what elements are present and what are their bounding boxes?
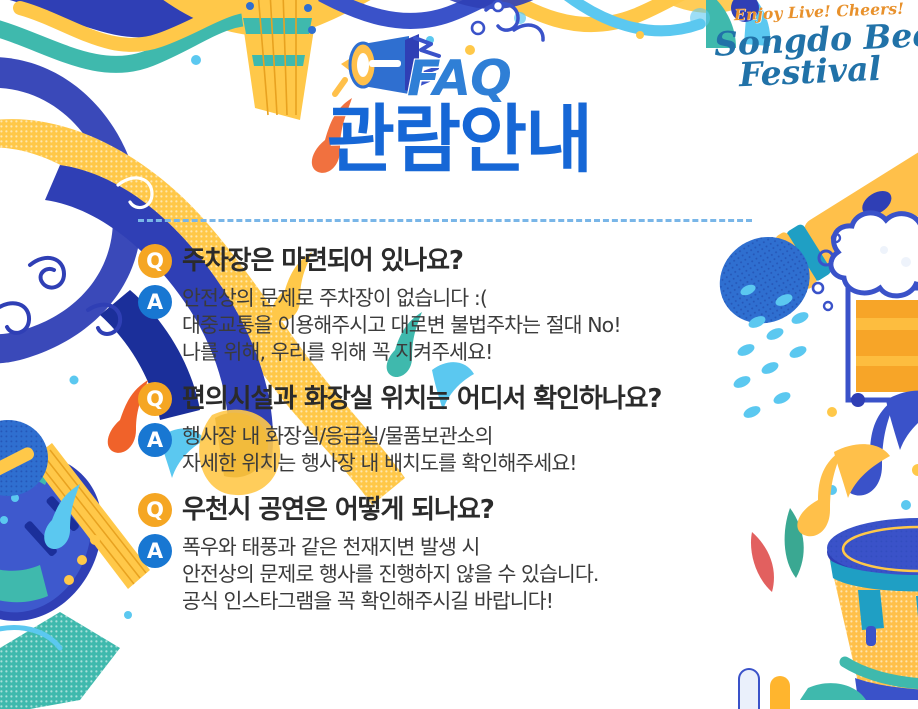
faq-heading-group: FAQ xyxy=(329,34,589,96)
answer-badge: A xyxy=(138,423,172,457)
answer-badge: A xyxy=(138,534,172,568)
drumstick-icon xyxy=(738,668,790,709)
faq-poster: Enjoy Live! Cheers! Songdo Beer Festival… xyxy=(0,0,918,709)
faq-item: Q 편의시설과 화장실 위치는 어디서 확인하나요? A 행사장 내 화장실/응… xyxy=(138,382,898,477)
faq-answer-line: 행사장 내 화장실/응급실/물품보관소의 xyxy=(182,423,577,450)
faq-answer-line: 공식 인스타그램을 꼭 확인해주시길 바랍니다! xyxy=(182,588,598,615)
faq-item: Q 주차장은 마련되어 있나요? A 안전상의 문제로 주차장이 없습니다 :(… xyxy=(138,244,898,366)
faq-answer-block: 폭우와 태풍과 같은 천재지변 발생 시 안전상의 문제로 행사를 진행하지 않… xyxy=(182,534,598,615)
faq-label: FAQ xyxy=(407,50,511,107)
faq-answer-line: 자세한 위치는 행사장 내 배치도를 확인해주세요! xyxy=(182,450,577,477)
faq-question-text: 주차장은 마련되어 있나요? xyxy=(182,244,463,278)
star-burst-icon xyxy=(0,612,120,709)
faq-question-row: Q 우천시 공연은 어떻게 되나요? xyxy=(138,493,898,527)
faq-answer-row: A 폭우와 태풍과 같은 천재지변 발생 시 안전상의 문제로 행사를 진행하지… xyxy=(138,533,898,615)
faq-answer-block: 안전상의 문제로 주차장이 없습니다 :( 대중교통을 이용해주시고 대로변 불… xyxy=(182,285,621,366)
faq-answer-row: A 안전상의 문제로 주차장이 없습니다 :( 대중교통을 이용해주시고 대로변… xyxy=(138,284,898,366)
faq-answer-line: 안전상의 문제로 주차장이 없습니다 :( xyxy=(182,285,621,312)
faq-list: Q 주차장은 마련되어 있나요? A 안전상의 문제로 주차장이 없습니다 :(… xyxy=(138,244,898,615)
question-badge: Q xyxy=(138,493,172,527)
faq-answer-block: 행사장 내 화장실/응급실/물품보관소의 자세한 위치는 행사장 내 배치도를 … xyxy=(182,423,577,477)
faq-question-row: Q 주차장은 마련되어 있나요? xyxy=(138,244,898,278)
faq-answer-line: 나를 위해, 우리를 위해 꼭 지켜주세요! xyxy=(182,339,621,366)
question-badge: Q xyxy=(138,244,172,278)
faq-item: Q 우천시 공연은 어떻게 되나요? A 폭우와 태풍과 같은 천재지변 발생 … xyxy=(138,493,898,615)
brand-logo: Enjoy Live! Cheers! Songdo Beer Festival xyxy=(714,2,918,88)
faq-answer-line: 폭우와 태풍과 같은 천재지변 발생 시 xyxy=(182,534,598,561)
faq-answer-row: A 행사장 내 화장실/응급실/물품보관소의 자세한 위치는 행사장 내 배치도… xyxy=(138,422,898,477)
question-badge: Q xyxy=(138,382,172,416)
microphone-icon xyxy=(0,420,48,496)
brand-name-line2: Festival xyxy=(713,51,906,93)
guitar-icon xyxy=(0,442,150,621)
faq-question-text: 편의시설과 화장실 위치는 어디서 확인하나요? xyxy=(182,382,661,416)
faq-question-row: Q 편의시설과 화장실 위치는 어디서 확인하나요? xyxy=(138,382,898,416)
section-divider xyxy=(138,219,752,222)
swirl-icon xyxy=(118,178,152,208)
faq-question-text: 우천시 공연은 어떻게 되나요? xyxy=(182,493,494,527)
faq-answer-line: 안전상의 문제로 행사를 진행하지 않을 수 있습니다. xyxy=(182,561,598,588)
answer-badge: A xyxy=(138,285,172,319)
faq-answer-line: 대중교통을 이용해주시고 대로변 불법주차는 절대 No! xyxy=(182,312,621,339)
confetti-icon xyxy=(472,1,503,34)
page-title: 관람안내 xyxy=(0,103,918,177)
swirl-icon xyxy=(0,258,120,334)
